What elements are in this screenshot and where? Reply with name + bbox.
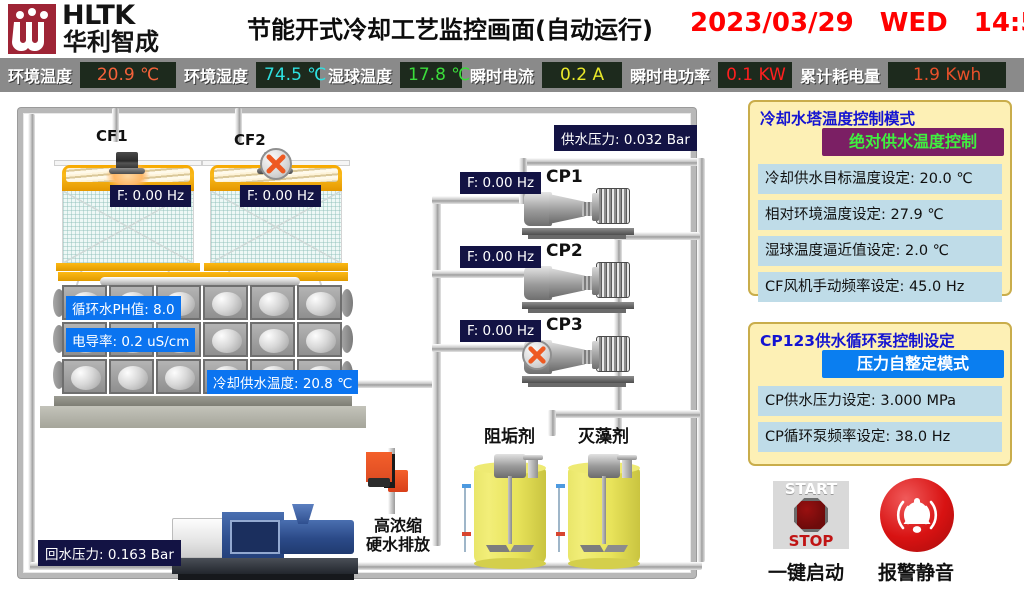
field-cf-manual-frequency[interactable]: CF风机手动频率设定: 45.0 Hz [758,272,1002,302]
panel-pump-control: CP123供水循环泵控制设定 压力自整定模式 CP供水压力设定: 3.000 M… [748,322,1012,466]
return-pressure-tag: 回水压力: 0.163 Bar [38,540,181,566]
status-label-ambient-temp: 环境温度 [0,63,80,87]
status-value-wetbulb-temp: 17.8 ℃ [400,62,462,88]
panel-title-tower: 冷却水塔温度控制模式 [760,107,915,129]
cooling-tower-group [58,140,348,280]
level-gauge-icon [558,486,570,552]
status-value-energy: 1.9 Kwh [888,62,1006,88]
basin-cell [297,322,342,357]
supply-riser-pipe [432,196,441,546]
field-cp-pump-frequency[interactable]: CP循环泵频率设定: 38.0 Hz [758,422,1002,452]
chem-tank-label-1: 阻垢剂 [484,422,535,447]
field-relative-ambient-temp[interactable]: 相对环境温度设定: 27.9 ℃ [758,200,1002,230]
status-value-ambient-humidity: 74.5 ℃ [256,62,320,88]
status-label-power: 瞬时电功率 [622,63,718,87]
imm-base-frame [172,558,358,574]
status-label-current: 瞬时电流 [462,63,542,87]
tower-base-bar [204,263,348,271]
status-label-energy: 累计耗电量 [792,63,888,87]
time-text: 14:56:26 [974,8,1024,38]
basin-tag-ph: 循环水PH值: 8.0 [66,296,181,320]
tower-mode-button[interactable]: 绝对供水温度控制 [822,128,1004,156]
logo-text-en: HLTK [62,2,135,30]
status-bar: 环境温度 20.9 ℃ 环境湿度 74.5 ℃ 湿球温度 17.8 ℃ 瞬时电流… [0,58,1024,92]
field-wetbulb-approach[interactable]: 湿球温度逼近值设定: 2.0 ℃ [758,236,1002,266]
injection-molding-machine[interactable] [172,508,364,580]
pump-label-cp2: CP2 [546,241,583,261]
agitator-motor-icon [494,454,526,478]
tower-label-cf2: CF2 [234,131,266,149]
basin-cell [250,285,295,320]
cooling-tower-cf1[interactable] [58,140,198,280]
pump-base [522,376,634,383]
pump-freq-tag-cp1: F: 0.00 Hz [460,172,541,194]
pump-volute [524,266,552,300]
datetime-display: 2023/03/29 WED 14:56:26 [690,8,1020,38]
pump-cone [549,194,585,224]
status-label-ambient-humidity: 环境湿度 [176,63,256,87]
fan-motor-icon [116,152,138,172]
dosing-drop-1 [548,410,556,436]
tower-freq-tag-cf1: F: 0.00 Hz [110,185,191,207]
agitator-motor-icon [588,454,620,478]
branch-pipe-cp1 [432,196,524,204]
basin-side-nozzle [341,325,353,353]
basin-plinth [54,396,352,406]
basin-cell [62,359,107,394]
drain-label-line2: 硬水排放 [358,535,438,554]
tank-vent-icon [622,458,632,478]
date-text: 2023/03/29 [690,8,854,38]
basin-cell [203,285,248,320]
tower-base-bar [56,263,200,271]
pump-cone [549,342,585,372]
header-bar: HLTK 华利智成 节能开式冷却工艺监控画面(自动运行) 2023/03/29 … [0,0,1024,58]
logo-text-cn: 华利智成 [63,29,159,55]
agitator-shaft [602,476,606,544]
discharge-return-riser [697,158,705,562]
pump-cone [549,268,585,298]
agitator-impeller-icon [486,540,534,552]
chem-tank-algaecide[interactable] [568,452,640,564]
tower-label-cf1: CF1 [96,127,128,145]
basin-foundation-pad [40,406,366,428]
basin-cell [297,285,342,320]
emergency-stop-icon [794,498,828,532]
agitator-shaft [508,476,512,544]
pump-mode-button[interactable]: 压力自整定模式 [822,350,1004,378]
branch-pipe-cp2 [432,270,524,278]
alarm-button-caption: 报警静音 [878,558,954,585]
status-value-ambient-temp: 20.9 ℃ [80,62,176,88]
tower-freq-tag-cf2: F: 0.00 Hz [240,185,321,207]
pump-volute [524,192,552,226]
start-label: START [785,481,838,497]
pump-motor-icon [596,188,630,224]
basin-cell [250,322,295,357]
one-key-start-button[interactable]: START STOP [773,481,849,549]
panel-title-pump: CP123供水循环泵控制设定 [760,329,955,351]
level-gauge-icon [464,486,476,552]
page-title: 节能开式冷却工艺监控画面(自动运行) [230,10,670,45]
drain-label: 高浓缩 硬水排放 [358,516,438,554]
panel-tower-temperature-control: 冷却水塔温度控制模式 绝对供水温度控制 冷却供水目标温度设定: 20.0 ℃ 相… [748,100,1012,296]
valve-handle-icon [368,478,390,487]
imm-injection-unit [280,520,354,554]
pump-base [522,228,634,235]
chem-tank-label-2: 灭藻剂 [578,422,629,447]
plant-left-riser-pipe [28,114,35,570]
discharge-header-pipe [524,158,704,166]
imm-mold-area [222,512,284,560]
company-logo: HLTK 华利智成 [6,2,176,56]
pump-label-cp1: CP1 [546,167,583,187]
basin-tag-conductivity: 电导率: 0.2 uS/cm [66,328,195,352]
imm-legs [178,574,354,580]
status-value-power: 0.1 KW [718,62,792,88]
field-target-supply-temp[interactable]: 冷却供水目标温度设定: 20.0 ℃ [758,164,1002,194]
field-cp-supply-pressure[interactable]: CP供水压力设定: 3.000 MPa [758,386,1002,416]
status-label-wetbulb-temp: 湿球温度 [320,63,400,87]
hltk-people-logo-icon [8,4,56,54]
basin-cell [109,359,154,394]
pump-motor-icon [596,336,630,372]
drain-label-line1: 高浓缩 [358,516,438,535]
fault-x-icon-cf2[interactable] [260,148,292,180]
pump-label-cp3: CP3 [546,315,583,335]
alarm-bell-icon [886,484,948,546]
pump-freq-tag-cp3: F: 0.00 Hz [460,320,541,342]
basin-cell [203,322,248,357]
fault-x-icon-cp3[interactable] [522,340,552,370]
hmi-screen: HLTK 华利智成 节能开式冷却工艺监控画面(自动运行) 2023/03/29 … [0,0,1024,600]
basin-cell [156,359,201,394]
hard-water-drain-valve[interactable] [366,448,410,514]
dosing-cross-pipe [548,410,700,418]
agitator-impeller-icon [580,540,628,552]
tank-vent-icon [528,458,538,478]
weekday-text: WED [880,8,948,38]
chem-tank-scale-inhibitor[interactable] [474,452,546,564]
alarm-mute-button[interactable] [880,478,954,552]
start-button-caption: 一键启动 [768,558,844,585]
pump-motor-icon [596,262,630,298]
status-value-current: 0.2 A [542,62,622,88]
stop-label: STOP [789,533,834,549]
basin-tag-supply-temp: 冷却供水温度: 20.8 ℃ [207,370,358,394]
pump-freq-tag-cp2: F: 0.00 Hz [460,246,541,268]
basin-side-nozzle [341,289,353,317]
branch-pipe-cp3 [432,344,524,352]
supply-pressure-tag: 供水压力: 0.032 Bar [554,125,697,151]
pump-base [522,302,634,309]
